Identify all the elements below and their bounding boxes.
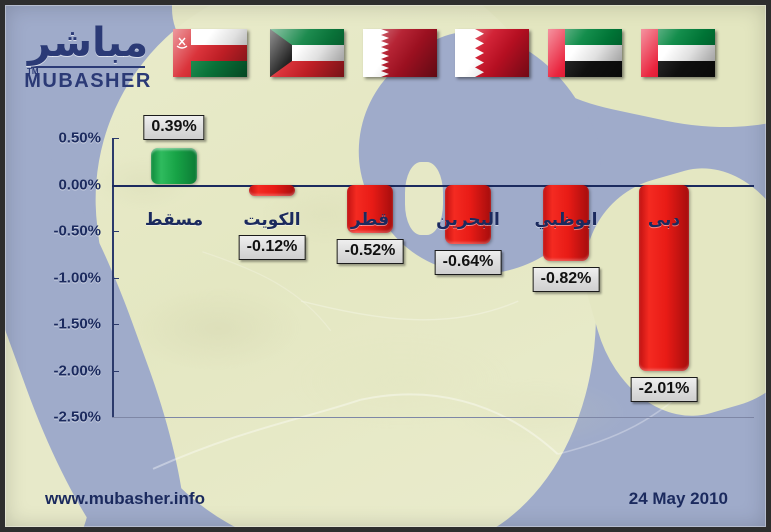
category-label: ابوظبي	[534, 210, 597, 230]
y-axis-tick-label: -2.00%	[53, 362, 101, 379]
y-axis-tick-label: 0.00%	[58, 176, 101, 193]
bar	[151, 148, 197, 184]
value-label: -0.52%	[337, 239, 404, 264]
y-axis-labels: 0.50%0.00%-0.50%-1.00%-1.50%-2.00%-2.50%	[19, 5, 101, 527]
y-axis-tick-label: -1.00%	[53, 269, 101, 286]
value-label: -0.64%	[435, 250, 502, 275]
category-label: البحرين	[436, 210, 500, 230]
y-axis-tick-label: -1.50%	[53, 316, 101, 333]
y-axis-tick-label: -2.50%	[53, 409, 101, 426]
footer: www.mubasher.info 24 May 2010	[5, 467, 766, 527]
category-label: دبى	[648, 210, 680, 230]
value-label: -0.12%	[239, 235, 306, 260]
category-label: الكويت	[243, 210, 300, 230]
category-label: مسقط	[145, 210, 203, 230]
website-url[interactable]: www.mubasher.info	[45, 489, 205, 509]
chart-image-frame: مباشر MUBASHER TM	[0, 0, 771, 532]
y-axis-tick-label: -0.50%	[53, 223, 101, 240]
value-label: 0.39%	[143, 115, 204, 140]
value-label: -0.82%	[533, 267, 600, 292]
value-label: -2.01%	[631, 377, 698, 402]
y-axis-tick-label: 0.50%	[58, 130, 101, 147]
bar	[249, 185, 295, 196]
chart-date: 24 May 2010	[629, 489, 728, 509]
bar-chart-plot: 0.50%0.00%-0.50%-1.00%-1.50%-2.00%-2.50%…	[5, 5, 766, 527]
category-label: قطر	[351, 210, 389, 230]
bottom-gridline	[112, 417, 754, 418]
y-axis-line	[112, 138, 114, 417]
